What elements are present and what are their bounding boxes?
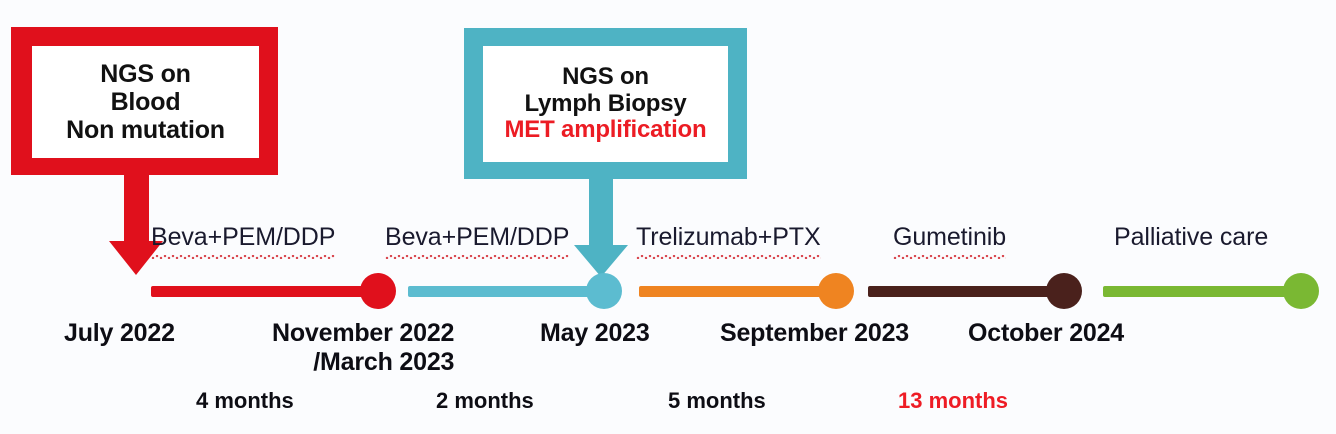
- timeline-segment-1: [151, 286, 367, 297]
- date-label-july-2022-text: July 2022: [64, 319, 175, 347]
- date-label-july-2022: July 2022: [64, 319, 175, 348]
- date-label-october-2024-text: October 2024: [968, 319, 1124, 347]
- treatment-label-1: Beva+PEM/DDP: [151, 223, 335, 252]
- treatment-label-4: Gumetinib: [893, 223, 1006, 252]
- treatment-label-1-text: Beva+PEM/DDP: [151, 223, 335, 252]
- treatment-label-2: Beva+PEM/DDP: [385, 223, 569, 252]
- duration-label-4: 13 months: [898, 388, 1008, 414]
- timeline-segment-5: [1103, 286, 1295, 297]
- timeline-milestone-dot-1: [360, 273, 396, 309]
- duration-label-1: 4 months: [196, 388, 294, 414]
- date-label-october-2024: October 2024: [968, 319, 1124, 348]
- callout-ngs-lymph-line-2: Lymph Biopsy: [524, 91, 686, 118]
- timeline-segment-4: [868, 286, 1058, 297]
- treatment-label-5: Palliative care: [1114, 223, 1268, 252]
- treatment-label-4-text: Gumetinib: [893, 223, 1006, 252]
- callout-ngs-lymph-biopsy: NGS on Lymph Biopsy MET amplification: [464, 28, 747, 179]
- treatment-label-2-text: Beva+PEM/DDP: [385, 223, 569, 252]
- callout-ngs-blood-line-3: Non mutation: [66, 116, 225, 144]
- duration-label-3: 5 months: [668, 388, 766, 414]
- callout-ngs-lymph-line-1: NGS on: [562, 64, 649, 91]
- callout-ngs-lymph-line-3: MET amplification: [505, 117, 707, 144]
- timeline-milestone-dot-2: [586, 273, 622, 309]
- treatment-label-5-text: Palliative care: [1114, 223, 1268, 251]
- timeline-segment-2: [408, 286, 598, 297]
- callout-ngs-blood-line-1: NGS on: [100, 60, 190, 88]
- date-label-may-2023: May 2023: [540, 319, 650, 348]
- date-label-may-2023-text: May 2023: [540, 319, 650, 347]
- callout-ngs-blood-line-2: Blood: [111, 88, 181, 116]
- arrow-down-red-stem: [124, 172, 149, 244]
- treatment-label-3-text: Trelizumab+PTX: [636, 223, 821, 252]
- date-label-september-2023: September 2023: [720, 319, 909, 348]
- timeline-milestone-dot-5: [1283, 273, 1319, 309]
- date-label-november-2022-text: November 2022: [272, 319, 454, 347]
- timeline-milestone-dot-3: [818, 273, 854, 309]
- treatment-label-3: Trelizumab+PTX: [636, 223, 821, 252]
- timeline-segment-3: [639, 286, 831, 297]
- date-label-march-2023-text: /March 2023: [272, 348, 454, 377]
- arrow-down-teal-stem: [589, 176, 613, 248]
- date-label-november-2022: November 2022 /March 2023: [272, 319, 454, 377]
- timeline-figure: NGS on Blood Non mutation NGS on Lymph B…: [0, 0, 1336, 434]
- callout-ngs-blood: NGS on Blood Non mutation: [11, 27, 278, 175]
- timeline-milestone-dot-4: [1046, 273, 1082, 309]
- date-label-september-2023-text: September 2023: [720, 319, 909, 347]
- duration-label-2: 2 months: [436, 388, 534, 414]
